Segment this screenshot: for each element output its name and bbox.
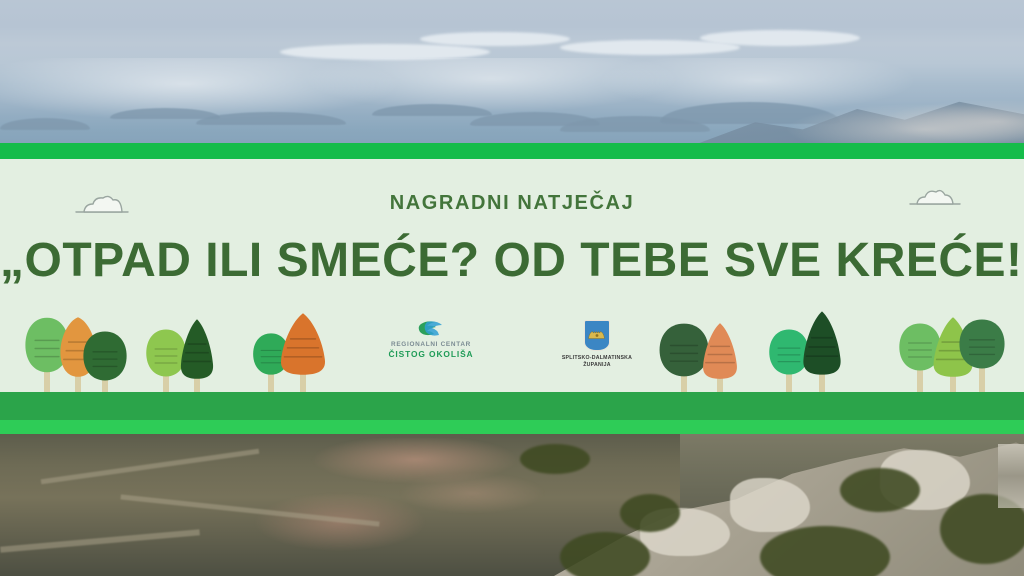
tree-crown: [178, 318, 216, 380]
scrub-bush: [520, 444, 590, 474]
kicker-text: NAGRADNI NATJEČAJ: [0, 192, 1024, 215]
scrub-bush: [840, 468, 920, 512]
photo-edge-artifact: [998, 444, 1024, 508]
poster-canvas: NAGRADNI NATJEČAJ „OTPAD ILI SMEĆE? OD T…: [0, 0, 1024, 576]
page-title: „OTPAD ILI SMEĆE? OD TEBE SVE KREĆE!“: [0, 233, 1024, 288]
distant-town: [694, 93, 1024, 145]
tree-crown: [700, 322, 740, 380]
scrub-bush: [620, 494, 680, 532]
bottom-photo-karst-ridge: [0, 434, 1024, 576]
tree-crown: [277, 312, 329, 376]
grass-strip: [0, 392, 1024, 420]
scrub-bush: [560, 532, 650, 576]
top-photo-sea-islands: [0, 0, 1024, 145]
top-green-rule: [0, 143, 1024, 159]
photo-cloud: [700, 30, 860, 46]
photo-cloud: [420, 32, 570, 46]
tree-crown: [800, 310, 844, 376]
bottom-green-rule: [0, 420, 1024, 434]
tree-crown: [82, 330, 128, 382]
town-rooftops: [250, 438, 550, 558]
tree-crown: [958, 318, 1006, 370]
